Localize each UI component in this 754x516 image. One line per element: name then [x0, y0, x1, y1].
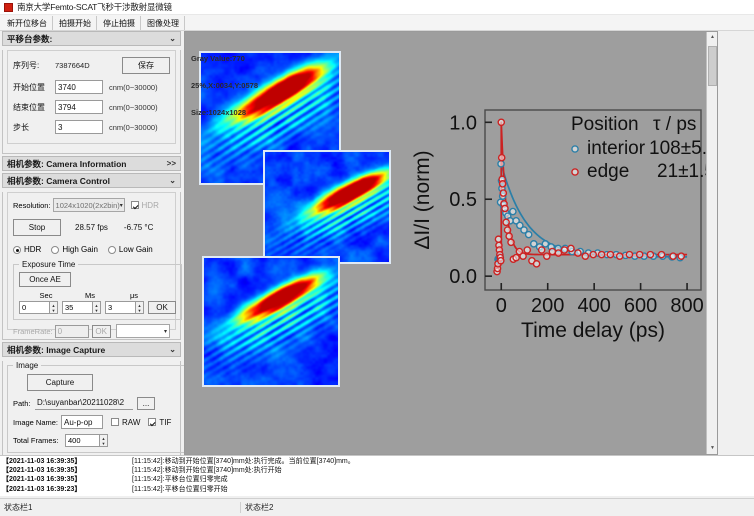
step-input[interactable]	[55, 120, 103, 134]
total-frames-label: Total Frames:	[13, 436, 65, 445]
us-stepper[interactable]: ▲▼	[105, 301, 144, 314]
raw-checkbox[interactable]: RAW	[111, 418, 140, 427]
svg-text:1.0: 1.0	[449, 112, 477, 134]
stop-button[interactable]: Stop	[13, 219, 61, 236]
gray-value-readout: Gray Value:770	[191, 54, 258, 63]
fps-value: 28.57 fps	[75, 223, 108, 232]
hdr-checkbox[interactable]: HDR	[131, 201, 159, 210]
ms-label: Ms	[73, 291, 107, 300]
log-message: [11:15:42]:移动到开始位置[3740]mm处:执行完成。当前位置[37…	[132, 457, 355, 466]
step-row: 步长 cnm(0~30000)	[13, 120, 170, 134]
log-line: 【2021-11-03 16:39:35】 [11:15:42]:移动到开始位置…	[2, 457, 752, 466]
sec-stepper[interactable]: ▲▼	[19, 301, 58, 314]
chevron-down-icon[interactable]: ⌄	[169, 345, 176, 354]
stage-panel-body: 序列号: 7387664D 保存 开始位置 cnm(0~30000) 结束位置	[2, 50, 181, 154]
serial-label: 序列号:	[13, 60, 55, 71]
end-position-label: 结束位置	[13, 102, 55, 113]
scrollbar-thumb[interactable]	[708, 46, 717, 86]
radio-low-gain-label: Low Gain	[119, 245, 153, 254]
browse-button[interactable]: ...	[137, 397, 155, 410]
image-group: Image Capture Path: ... Image Name:	[7, 361, 185, 453]
radio-high-gain-label: High Gain	[62, 245, 98, 254]
log-timestamp: 【2021-11-03 16:39:35】	[2, 457, 132, 466]
svg-text:τ / ps: τ / ps	[653, 114, 696, 135]
image-capture-panel-header[interactable]: 相机参数: Image Capture ⌄	[2, 342, 181, 357]
framerate-select[interactable]: ▾	[116, 324, 170, 338]
us-label: μs	[117, 291, 151, 300]
start-position-label: 开始位置	[13, 82, 55, 93]
svg-text:0: 0	[496, 295, 507, 317]
log-panel[interactable]: 【2021-11-03 16:39:35】 [11:15:42]:移动到开始位置…	[0, 455, 754, 496]
radio-low-gain[interactable]: Low Gain	[108, 245, 153, 254]
image-size-readout: Size:1024x1028	[191, 108, 258, 117]
path-input[interactable]	[35, 396, 133, 410]
save-button[interactable]: 保存	[122, 57, 170, 74]
end-position-input[interactable]	[55, 100, 103, 114]
start-position-unit: cnm(0~30000)	[109, 83, 158, 92]
checkbox-icon	[131, 201, 139, 209]
svg-text:interior: interior	[587, 138, 646, 159]
chevron-down-icon: ▾	[164, 328, 167, 335]
framerate-row: FrameRate: OK ▾	[13, 324, 170, 338]
total-frames-stepper[interactable]: ▲▼	[65, 434, 108, 447]
status-bar: 状态栏1 状态栏2	[0, 498, 754, 516]
log-timestamp: 【2021-11-03 16:39:35】	[2, 466, 132, 475]
stage-panel-title: 平移台参数:	[7, 33, 52, 45]
hdr-checkbox-label: HDR	[142, 201, 159, 210]
framerate-input[interactable]	[55, 325, 89, 338]
exposure-ok-button[interactable]: OK	[148, 301, 176, 314]
log-line: 【2021-11-03 16:39:23】 [11:15:42]:平移台位置归零…	[2, 485, 752, 494]
work-area: 平移台参数: ⌄ 序列号: 7387664D 保存 开始位置 cnm(0~	[0, 31, 754, 455]
step-label: 步长	[13, 122, 55, 133]
camera-information-title: 相机参数: Camera Information	[7, 158, 127, 170]
framerate-ok-button[interactable]: OK	[92, 325, 111, 338]
svg-text:200: 200	[531, 295, 564, 317]
exposure-spinners: ▲▼ ▲▼ ▲▼ OK	[19, 301, 176, 314]
svg-text:edge: edge	[587, 161, 629, 182]
camera-information-panel-header[interactable]: 相机参数: Camera Information >>	[2, 156, 181, 171]
resolution-select[interactable]: 1024x1020(2x2bin) ▾	[53, 198, 125, 212]
radio-icon	[51, 246, 59, 254]
resolution-value: 1024x1020(2x2bin)	[56, 201, 120, 210]
log-line: 【2021-11-03 16:39:35】 [11:15:42]:移动到开始位置…	[2, 466, 752, 475]
left-control-column: 平移台参数: ⌄ 序列号: 7387664D 保存 开始位置 cnm(0~	[2, 31, 181, 455]
stage-parameters-panel: 平移台参数: ⌄ 序列号: 7387664D 保存 开始位置 cnm(0~	[2, 31, 181, 154]
tif-checkbox[interactable]: TIF	[148, 418, 171, 427]
temperature-value: -6.75 °C	[124, 223, 153, 232]
stepper-arrows-icon[interactable]: ▲▼	[135, 301, 144, 314]
log-timestamp: 【2021-11-03 16:39:23】	[2, 485, 132, 494]
radio-high-gain[interactable]: High Gain	[51, 245, 98, 254]
camera-control-body: Resolution: 1024x1020(2x2bin) ▾ HDR	[2, 192, 181, 340]
stage-panel-header[interactable]: 平移台参数: ⌄	[2, 31, 181, 46]
status-pane-1: 状态栏1	[0, 502, 240, 513]
svg-text:108±5.5: 108±5.5	[649, 138, 713, 159]
image-name-input[interactable]	[61, 415, 103, 429]
once-ae-button[interactable]: Once AE	[19, 272, 71, 287]
exposure-unit-labels: Sec Ms μs	[19, 291, 176, 300]
svg-text:600: 600	[624, 295, 657, 317]
raw-checkbox-label: RAW	[122, 418, 140, 427]
camera-control-panel: 相机参数: Camera Control ⌄ Resolution: 1024x…	[2, 173, 181, 340]
sec-label: Sec	[29, 291, 63, 300]
start-position-input[interactable]	[55, 80, 103, 94]
scroll-up-icon[interactable]: ▲	[707, 32, 718, 43]
chart-svg: 02004006008000.00.51.0Time delay (ps)ΔI/…	[413, 94, 713, 349]
log-message: [11:15:42]:平移台位置归零开始	[132, 485, 228, 494]
thermal-image-bottom[interactable]	[202, 256, 340, 387]
image-capture-body: Image Capture Path: ... Image Name:	[2, 361, 181, 469]
scroll-down-icon[interactable]: ▼	[707, 443, 718, 454]
path-label: Path:	[13, 399, 35, 408]
ms-stepper[interactable]: ▲▼	[62, 301, 101, 314]
end-position-unit: cnm(0~30000)	[109, 103, 158, 112]
ms-input[interactable]	[62, 301, 92, 314]
tif-checkbox-label: TIF	[159, 418, 171, 427]
image-capture-title: 相机参数: Image Capture	[7, 344, 105, 356]
image-group-legend: Image	[13, 361, 41, 370]
svg-text:0.0: 0.0	[449, 266, 477, 288]
main-toolbar: 新开位移台 拍摄开始 停止拍摄 图像处理	[0, 15, 754, 31]
title-bar: 南京大学Femto-SCAT飞秒干涉散射显微镜	[0, 0, 754, 15]
log-message: [11:15:42]:平移台位置归零完成	[132, 475, 228, 484]
sec-input[interactable]	[19, 301, 49, 314]
exposure-time-group: Exposure Time Once AE Sec Ms μs ▲▼	[13, 260, 182, 320]
chevron-right-icon[interactable]: >>	[167, 159, 176, 168]
start-position-row: 开始位置 cnm(0~30000)	[13, 80, 170, 94]
checkbox-icon	[148, 418, 156, 426]
image-capture-panel: 相机参数: Image Capture ⌄ Image Capture Path…	[2, 342, 181, 469]
us-input[interactable]	[105, 301, 135, 314]
decay-chart: 02004006008000.00.51.0Time delay (ps)ΔI/…	[413, 94, 713, 349]
stop-fps-row: Stop 28.57 fps -6.75 °C	[13, 219, 170, 236]
exposure-time-legend: Exposure Time	[19, 260, 78, 269]
chevron-down-icon[interactable]: ⌄	[169, 176, 176, 185]
total-frames-input[interactable]	[65, 434, 99, 447]
radio-icon	[108, 246, 116, 254]
camera-control-inner-box: Resolution: 1024x1020(2x2bin) ▾ HDR	[7, 192, 176, 330]
coordinates-readout: 25%,X:0034,Y:0578	[191, 81, 258, 90]
image-viewer[interactable]: Gray Value:770 25%,X:0034,Y:0578 Size:10…	[184, 31, 718, 455]
framerate-label: FrameRate:	[13, 327, 53, 336]
svg-text:Position: Position	[571, 114, 639, 135]
radio-hdr-label: HDR	[24, 245, 41, 254]
log-message: [11:15:42]:移动到开始位置[3740]mm处:执行开始	[132, 466, 282, 475]
log-timestamp: 【2021-11-03 16:39:35】	[2, 475, 132, 484]
thermal-image-middle[interactable]	[263, 150, 391, 264]
viewer-overlay-info: Gray Value:770 25%,X:0034,Y:0578 Size:10…	[191, 36, 258, 135]
toolbar-button-image-processing[interactable]: 图像处理	[142, 16, 185, 30]
serial-row: 序列号: 7387664D 保存	[13, 57, 170, 74]
chevron-down-icon[interactable]: ⌄	[169, 34, 176, 43]
toolbar-button-stop-capture[interactable]: 停止拍摄	[98, 16, 141, 30]
camera-control-title: 相机参数: Camera Control	[7, 175, 110, 187]
app-icon	[4, 3, 13, 12]
svg-text:Time delay (ps): Time delay (ps)	[521, 319, 665, 342]
step-unit: cnm(0~30000)	[109, 123, 158, 132]
stepper-arrows-icon[interactable]: ▲▼	[99, 434, 108, 447]
viewer-vertical-scrollbar[interactable]: ▲ ▼	[706, 32, 717, 454]
status-pane-2: 状态栏2	[240, 502, 273, 513]
stepper-arrows-icon[interactable]: ▲▼	[49, 301, 58, 314]
checkbox-icon	[111, 418, 119, 426]
log-line: 【2021-11-03 16:39:35】 [11:15:42]:平移台位置归零…	[2, 475, 752, 484]
camera-control-panel-header[interactable]: 相机参数: Camera Control ⌄	[2, 173, 181, 188]
total-frames-row: Total Frames: ▲▼	[13, 434, 179, 447]
image-name-row: Image Name: RAW TIF	[13, 415, 179, 429]
stage-inner-box: 序列号: 7387664D 保存 开始位置 cnm(0~30000) 结束位置	[7, 50, 176, 144]
svg-text:800: 800	[670, 295, 703, 317]
serial-value: 7387664D	[55, 61, 90, 70]
image-name-label: Image Name:	[13, 418, 61, 427]
capture-button[interactable]: Capture	[27, 374, 93, 391]
svg-text:0.5: 0.5	[449, 189, 477, 211]
svg-text:ΔI/I (norm): ΔI/I (norm)	[413, 150, 434, 249]
stepper-arrows-icon[interactable]: ▲▼	[92, 301, 101, 314]
gain-radio-row: HDR High Gain Low Gain	[13, 245, 170, 254]
application-window: 南京大学Femto-SCAT飞秒干涉散射显微镜 新开位移台 拍摄开始 停止拍摄 …	[0, 0, 754, 516]
radio-hdr[interactable]: HDR	[13, 245, 41, 254]
radio-icon	[13, 246, 21, 254]
chevron-down-icon: ▾	[120, 202, 123, 209]
toolbar-button-new-stage[interactable]: 新开位移台	[2, 16, 53, 30]
svg-text:21±1.5: 21±1.5	[657, 161, 713, 182]
end-position-row: 结束位置 cnm(0~30000)	[13, 100, 170, 114]
svg-text:400: 400	[577, 295, 610, 317]
resolution-row: Resolution: 1024x1020(2x2bin) ▾ HDR	[13, 198, 170, 212]
toolbar-button-start-capture[interactable]: 拍摄开始	[54, 16, 97, 30]
resolution-label: Resolution:	[13, 201, 51, 210]
path-row: Path: ...	[13, 396, 179, 410]
window-title: 南京大学Femto-SCAT飞秒干涉散射显微镜	[17, 1, 172, 13]
